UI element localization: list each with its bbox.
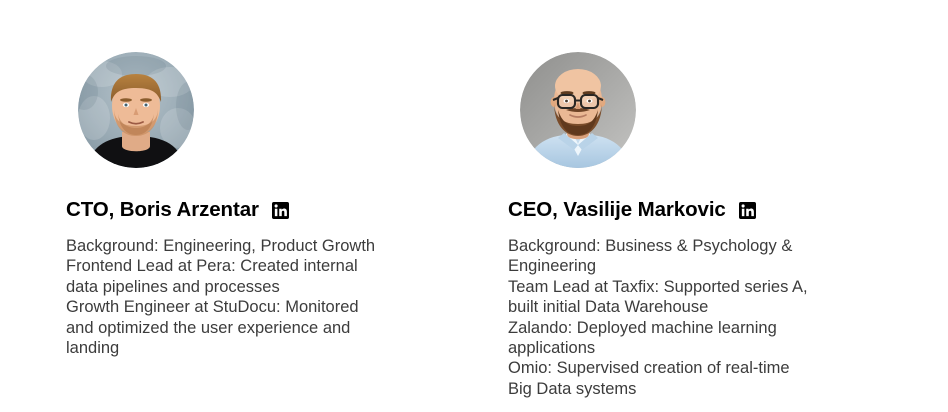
bio-line: and optimized the user experience and: [66, 318, 414, 338]
team-member-grid: CTO, Boris Arzentar Background: Engineer…: [0, 0, 948, 412]
bio-line: Zalando: Deployed machine learning: [508, 318, 856, 338]
member-bio: Background: Business & Psychology & Engi…: [508, 236, 856, 399]
bio-line: built initial Data Warehouse: [508, 297, 856, 317]
bio-line: Engineering: [508, 256, 856, 276]
member-name: CTO, Boris Arzentar: [66, 197, 259, 223]
linkedin-icon[interactable]: [272, 202, 289, 219]
bio-line: Growth Engineer at StuDocu: Monitored: [66, 297, 414, 317]
bio-line: applications: [508, 338, 856, 358]
bio-line: Frontend Lead at Pera: Created internal: [66, 256, 414, 276]
member-bio: Background: Engineering, Product Growth …: [66, 236, 414, 358]
avatar: [520, 52, 636, 168]
avatar: [78, 52, 194, 168]
team-member-card: CEO, Vasilije Markovic Background: Busin…: [508, 0, 908, 412]
member-name: CEO, Vasilije Markovic: [508, 197, 726, 223]
bio-line: data pipelines and processes: [66, 277, 414, 297]
bio-line: Team Lead at Taxfix: Supported series A,: [508, 277, 856, 297]
member-name-row: CEO, Vasilije Markovic: [508, 197, 756, 223]
bio-line: Background: Business & Psychology &: [508, 236, 856, 256]
bio-line: Big Data systems: [508, 379, 856, 399]
bio-line: landing: [66, 338, 414, 358]
linkedin-icon[interactable]: [739, 202, 756, 219]
member-name-row: CTO, Boris Arzentar: [66, 197, 289, 223]
bio-line: Omio: Supervised creation of real-time: [508, 358, 856, 378]
bio-line: Background: Engineering, Product Growth: [66, 236, 414, 256]
team-member-card: CTO, Boris Arzentar Background: Engineer…: [66, 0, 466, 412]
